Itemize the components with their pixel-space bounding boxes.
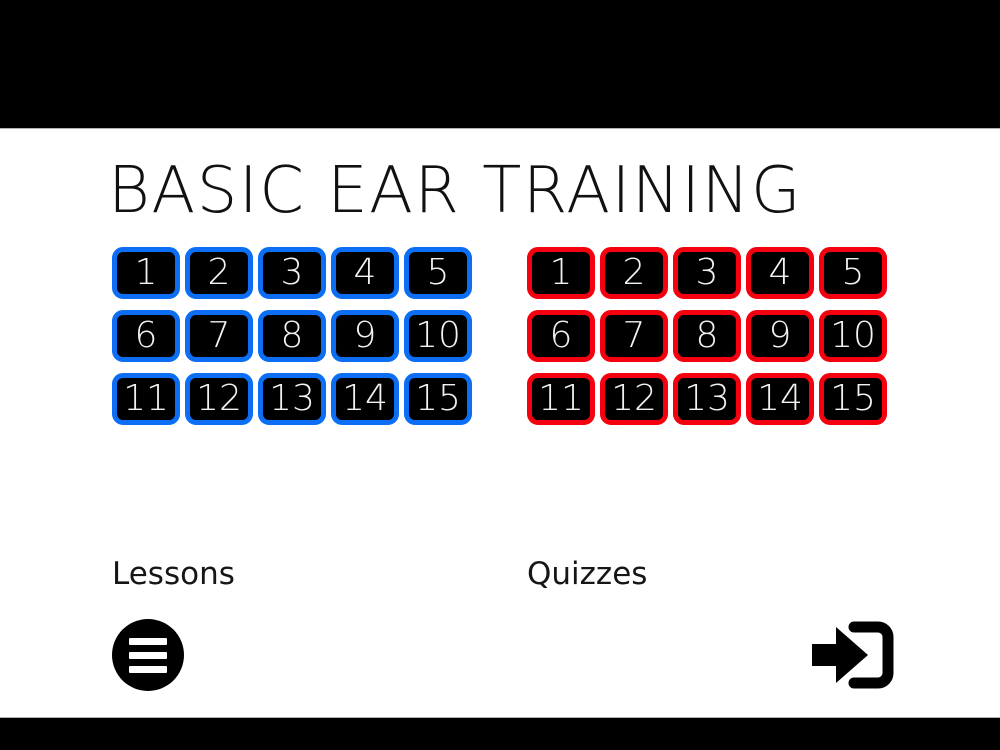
quizz-button-14[interactable]: 14	[746, 373, 814, 425]
menu-bar-top	[129, 638, 167, 645]
quizz-button-13[interactable]: 13	[673, 373, 741, 425]
lesson-button-4[interactable]: 4	[331, 247, 399, 299]
quizz-button-3[interactable]: 3	[673, 247, 741, 299]
enter-arrow-icon[interactable]	[806, 617, 894, 693]
quizz-button-15[interactable]: 15	[819, 373, 887, 425]
quizz-button-1[interactable]: 1	[527, 247, 595, 299]
quizz-button-7[interactable]: 7	[600, 310, 668, 362]
lesson-button-15[interactable]: 15	[404, 373, 472, 425]
lesson-button-8[interactable]: 8	[258, 310, 326, 362]
lesson-button-12[interactable]: 12	[185, 373, 253, 425]
quizz-button-2[interactable]: 2	[600, 247, 668, 299]
letterbox-bottom	[0, 718, 1000, 750]
quizzes-section: 123456789101112131415 Quizzes	[527, 247, 887, 425]
quizz-button-11[interactable]: 11	[527, 373, 595, 425]
lesson-button-9[interactable]: 9	[331, 310, 399, 362]
lessons-label: Lessons	[112, 555, 235, 593]
lessons-section: 123456789101112131415 Lessons	[112, 247, 472, 425]
quizz-button-12[interactable]: 12	[600, 373, 668, 425]
lesson-button-6[interactable]: 6	[112, 310, 180, 362]
lesson-button-7[interactable]: 7	[185, 310, 253, 362]
quizz-button-8[interactable]: 8	[673, 310, 741, 362]
main-stage: BASIC EAR TRAINING 123456789101112131415…	[0, 128, 1000, 718]
menu-bar-middle	[129, 652, 167, 659]
quizz-button-10[interactable]: 10	[819, 310, 887, 362]
hamburger-menu-icon[interactable]	[112, 619, 184, 691]
lesson-button-5[interactable]: 5	[404, 247, 472, 299]
lesson-button-11[interactable]: 11	[112, 373, 180, 425]
lesson-button-10[interactable]: 10	[404, 310, 472, 362]
lessons-grid: 123456789101112131415	[112, 247, 472, 425]
quizz-button-5[interactable]: 5	[819, 247, 887, 299]
lesson-button-13[interactable]: 13	[258, 373, 326, 425]
menu-bar-bottom	[129, 666, 167, 673]
lesson-button-1[interactable]: 1	[112, 247, 180, 299]
lesson-button-14[interactable]: 14	[331, 373, 399, 425]
quizz-button-9[interactable]: 9	[746, 310, 814, 362]
quizzes-grid: 123456789101112131415	[527, 247, 887, 425]
quizz-button-4[interactable]: 4	[746, 247, 814, 299]
lesson-button-3[interactable]: 3	[258, 247, 326, 299]
letterbox-top	[0, 0, 1000, 128]
lesson-button-2[interactable]: 2	[185, 247, 253, 299]
quizzes-label: Quizzes	[527, 555, 647, 593]
app-root: BASIC EAR TRAINING 123456789101112131415…	[0, 0, 1000, 750]
page-title: BASIC EAR TRAINING	[108, 155, 802, 227]
quizz-button-6[interactable]: 6	[527, 310, 595, 362]
